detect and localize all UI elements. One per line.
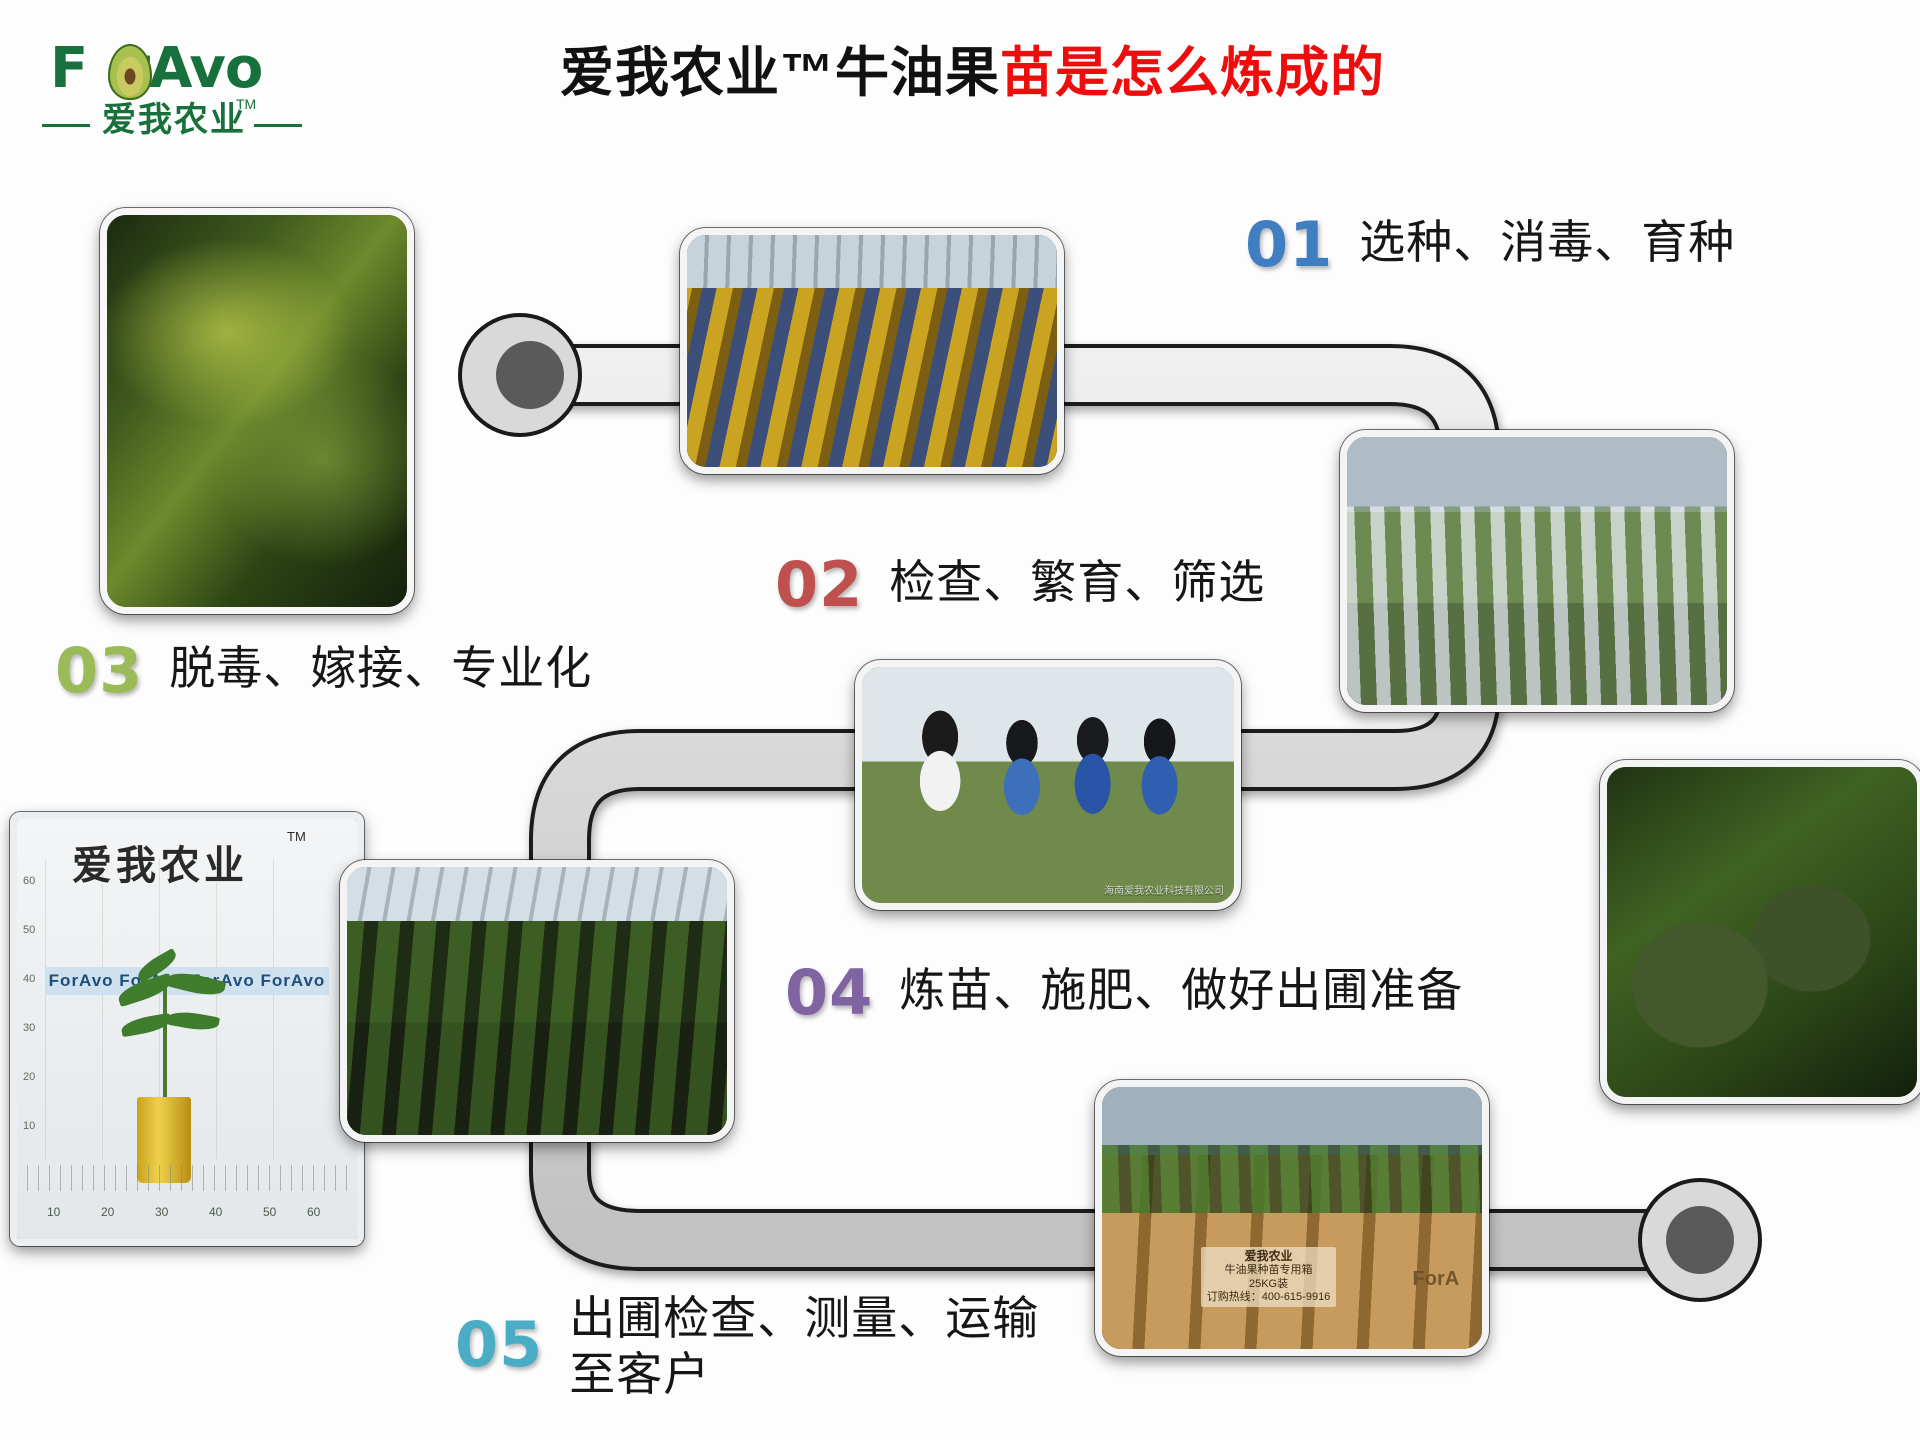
step-04: 04 炼苗、施肥、做好出圃准备 bbox=[785, 960, 1463, 1026]
box-label-line2: 牛油果种苗专用箱 bbox=[1225, 1264, 1313, 1276]
ruler-y-tick: 40 bbox=[23, 973, 35, 985]
step-01-text: 选种、消毒、育种 bbox=[1359, 212, 1735, 272]
page-title: 爱我农业™牛油果苗是怎么炼成的 bbox=[560, 42, 1385, 104]
seed-tray-greenhouse-photo bbox=[680, 228, 1064, 474]
ruler-y-tick: 20 bbox=[23, 1071, 35, 1083]
step-02-text: 检查、繁育、筛选 bbox=[889, 552, 1265, 612]
box-label-line3: 25KG装 bbox=[1249, 1278, 1288, 1290]
logo-rule-right bbox=[254, 124, 302, 127]
measured-seedling-photo: 爱我农业 TM 60 50 40 30 20 10 ForAvo ForAvo … bbox=[10, 812, 364, 1246]
ruler-x-tick: 60 bbox=[307, 1205, 320, 1219]
ruler-y-tick: 50 bbox=[23, 924, 35, 936]
logo-wordmark: ForAvo bbox=[50, 38, 262, 100]
ruler-x-tick: 20 bbox=[101, 1205, 114, 1219]
step-03: 03 脱毒、嫁接、专业化 bbox=[55, 638, 592, 704]
step-05-number: 05 bbox=[455, 1312, 543, 1378]
step-03-text: 脱毒、嫁接、专业化 bbox=[169, 638, 592, 698]
grafted-seedling-greenhouse-photo bbox=[1340, 430, 1734, 712]
photo-watermark: 海南爱我农业科技有限公司 bbox=[1104, 882, 1224, 897]
step-02: 02 检查、繁育、筛选 bbox=[775, 552, 1265, 618]
logo-tm-mark: TM bbox=[236, 96, 256, 112]
ruler-y-tick: 10 bbox=[23, 1120, 35, 1132]
page-title-black: 爱我农业™牛油果 bbox=[560, 43, 1000, 103]
box-side-mark: ForA bbox=[1413, 1268, 1460, 1291]
shipping-box-label: 爱我农业 牛油果种苗专用箱 25KG装 订购热线：400-615-9916 bbox=[1201, 1247, 1337, 1307]
box-label-line4: 订购热线：400-615-9916 bbox=[1207, 1291, 1331, 1303]
step-02-number: 02 bbox=[775, 552, 863, 618]
step-01-number: 01 bbox=[1245, 212, 1333, 278]
step-03-number: 03 bbox=[55, 638, 143, 704]
connector-end-node bbox=[1640, 1180, 1760, 1300]
ruler-photo-tm: TM bbox=[287, 829, 306, 844]
avocado-flower-photo bbox=[100, 208, 414, 614]
ruler-x-tick: 40 bbox=[209, 1205, 222, 1219]
ruler-y-tick: 30 bbox=[23, 1022, 35, 1034]
staff-inspection-photo: 海南爱我农业科技有限公司 bbox=[855, 660, 1241, 910]
infographic-canvas: ForAvo 爱我农业 TM 爱我农业™牛油果苗是怎么炼成的 海南爱我农业科技有… bbox=[0, 0, 1920, 1440]
connector-start-node bbox=[460, 315, 580, 435]
logo-rule-left bbox=[42, 124, 90, 127]
ruler-x-tick: 30 bbox=[155, 1205, 168, 1219]
avocado-icon bbox=[108, 44, 152, 100]
ruler-x-tick: 10 bbox=[47, 1205, 60, 1219]
step-05-text: 出圃检查、测量、运输 至客户 bbox=[569, 1290, 1039, 1402]
page-title-red: 苗是怎么炼成的 bbox=[1000, 43, 1385, 103]
step-04-number: 04 bbox=[785, 960, 873, 1026]
logo-chinese-name: 爱我农业 bbox=[102, 100, 246, 140]
ruler-y-tick: 60 bbox=[23, 875, 35, 887]
packed-boxes-shipping-photo: 爱我农业 牛油果种苗专用箱 25KG装 订购热线：400-615-9916 Fo… bbox=[1095, 1080, 1489, 1356]
ruler-x-tick: 50 bbox=[263, 1205, 276, 1219]
avocado-fruit-on-tree-photo bbox=[1600, 760, 1920, 1104]
step-04-text: 炼苗、施肥、做好出圃准备 bbox=[899, 960, 1463, 1020]
ruler-photo-brand: 爱我农业 bbox=[72, 833, 248, 891]
brand-logo: ForAvo 爱我农业 TM bbox=[40, 38, 330, 148]
box-label-brand: 爱我农业 bbox=[1207, 1249, 1331, 1264]
step-05: 05 出圃检查、测量、运输 至客户 bbox=[455, 1290, 1039, 1402]
step-01: 01 选种、消毒、育种 bbox=[1245, 212, 1735, 278]
potted-seedling-rows-photo bbox=[340, 860, 734, 1142]
